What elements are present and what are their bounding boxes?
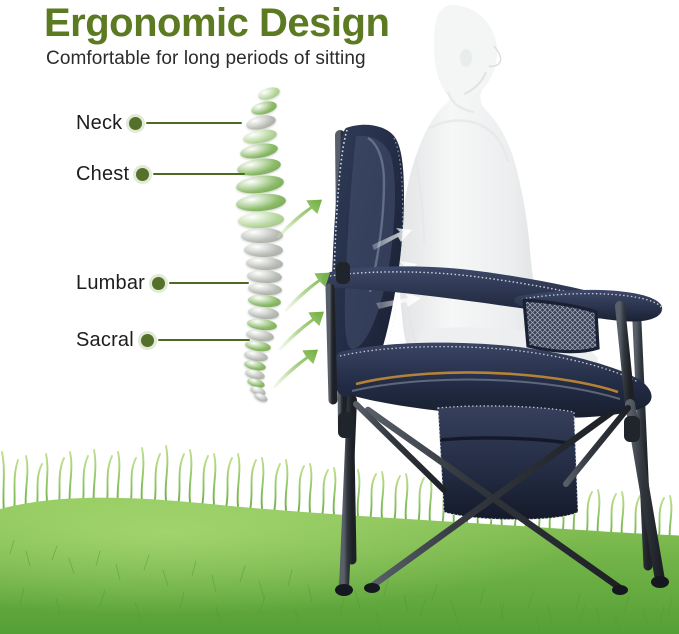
vertebra — [246, 256, 283, 270]
infographic-canvas: NeckChestLumbarSacral Ergonomic Design C… — [0, 0, 679, 634]
page-title: Ergonomic Design — [44, 2, 389, 44]
callout-dot-icon — [129, 117, 142, 130]
vertebra — [250, 99, 278, 117]
callout-label: Chest — [76, 163, 129, 186]
callout-chest: Chest — [76, 163, 245, 185]
vertebra — [244, 243, 283, 258]
page-subtitle: Comfortable for long periods of sitting — [46, 48, 366, 70]
callout-dot-icon — [152, 277, 165, 290]
vertebra — [241, 228, 283, 244]
callout-leader-line — [169, 282, 249, 284]
callout-leader-line — [158, 339, 250, 341]
vertebra — [248, 282, 283, 296]
mesh-cup-holder — [524, 300, 598, 352]
vertebra — [238, 211, 285, 229]
callout-sacral: Sacral — [76, 329, 250, 351]
callout-dot-icon — [136, 168, 149, 181]
callout-label: Neck — [76, 112, 122, 135]
vertebra — [247, 269, 283, 284]
callout-label: Lumbar — [76, 272, 145, 295]
callout-leader-line — [146, 122, 242, 124]
callout-lumbar: Lumbar — [76, 272, 249, 294]
vertebra — [257, 85, 281, 102]
callout-label: Sacral — [76, 329, 134, 352]
callout-leader-line — [153, 173, 245, 175]
storage-pocket — [438, 406, 578, 520]
vertebra — [235, 192, 286, 213]
callout-dot-icon — [141, 334, 154, 347]
callout-neck: Neck — [76, 112, 242, 134]
